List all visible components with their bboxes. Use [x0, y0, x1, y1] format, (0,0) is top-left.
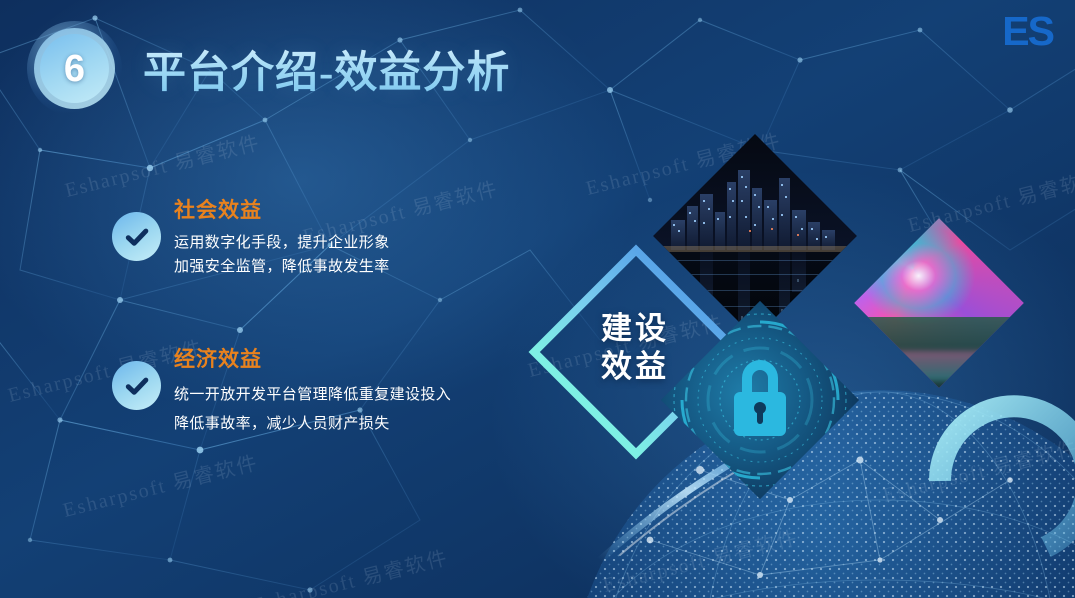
page-title: 平台介绍-效益分析: [143, 38, 510, 100]
benefit-item-social: 社会效益 运用数字化手段，提升企业形象 加强安全监管，降低事故发生率: [112, 199, 390, 280]
step-number-badge: 6: [27, 21, 122, 116]
benefit-item-economic: 经济效益 统一开放开发平台管理降低重复建设投入 降低事故率，减少人员财产损失: [112, 348, 451, 439]
watermark: Esharpsoft 易睿软件: [599, 521, 801, 598]
watermark: Esharpsoft 易睿软件: [59, 446, 261, 523]
check-circle-icon: [112, 212, 161, 261]
benefit-line: 降低事故率，减少人员财产损失: [174, 409, 451, 438]
center-label-line1: 建设: [560, 310, 710, 348]
benefit-line: 加强安全监管，降低事故发生率: [174, 255, 390, 279]
benefit-line: 统一开放开发平台管理降低重复建设投入: [174, 380, 451, 409]
watermark: Esharpsoft 易睿软件: [249, 541, 451, 598]
check-circle-icon: [112, 361, 161, 410]
es-logo: ES: [1002, 11, 1053, 52]
benefit-body: 社会效益 运用数字化手段，提升企业形象 加强安全监管，降低事故发生率: [174, 199, 390, 280]
decorative-ring-arc: [928, 385, 1075, 560]
benefit-line: 运用数字化手段，提升企业形象: [174, 231, 390, 255]
benefit-body: 经济效益 统一开放开发平台管理降低重复建设投入 降低事故率，减少人员财产损失: [174, 348, 451, 439]
slide-benefit-analysis: Esharpsoft 易睿软件 Esharpsoft 易睿软件 Esharpso…: [0, 0, 1075, 598]
benefit-heading: 社会效益: [174, 199, 390, 222]
badge-core: 6: [40, 34, 109, 103]
step-number-text: 6: [64, 50, 85, 88]
benefit-heading: 经济效益: [174, 348, 451, 371]
watermark: Esharpsoft 易睿软件: [61, 126, 263, 203]
